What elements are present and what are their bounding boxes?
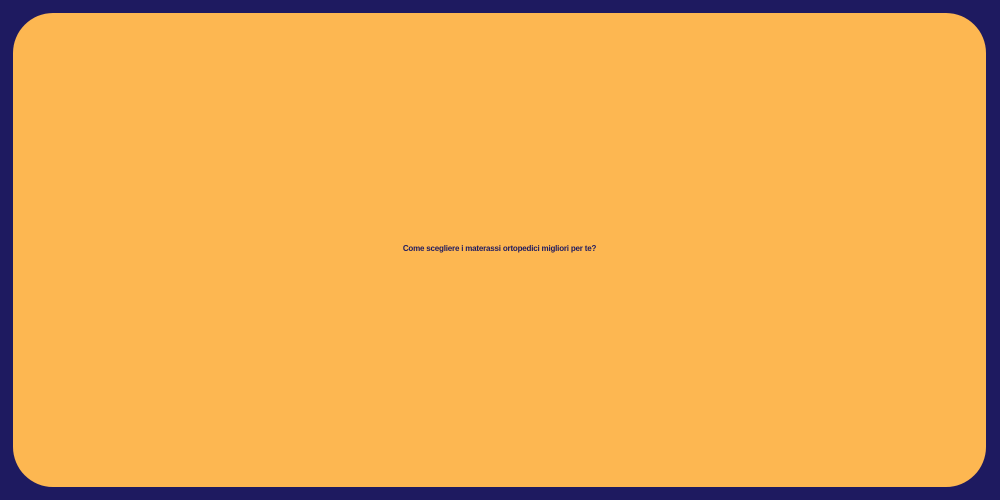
banner-headline: Come scegliere i materassi ortopedici mi…	[13, 244, 986, 253]
banner-card: Come scegliere i materassi ortopedici mi…	[13, 13, 986, 487]
banner-frame: Come scegliere i materassi ortopedici mi…	[0, 0, 1000, 500]
